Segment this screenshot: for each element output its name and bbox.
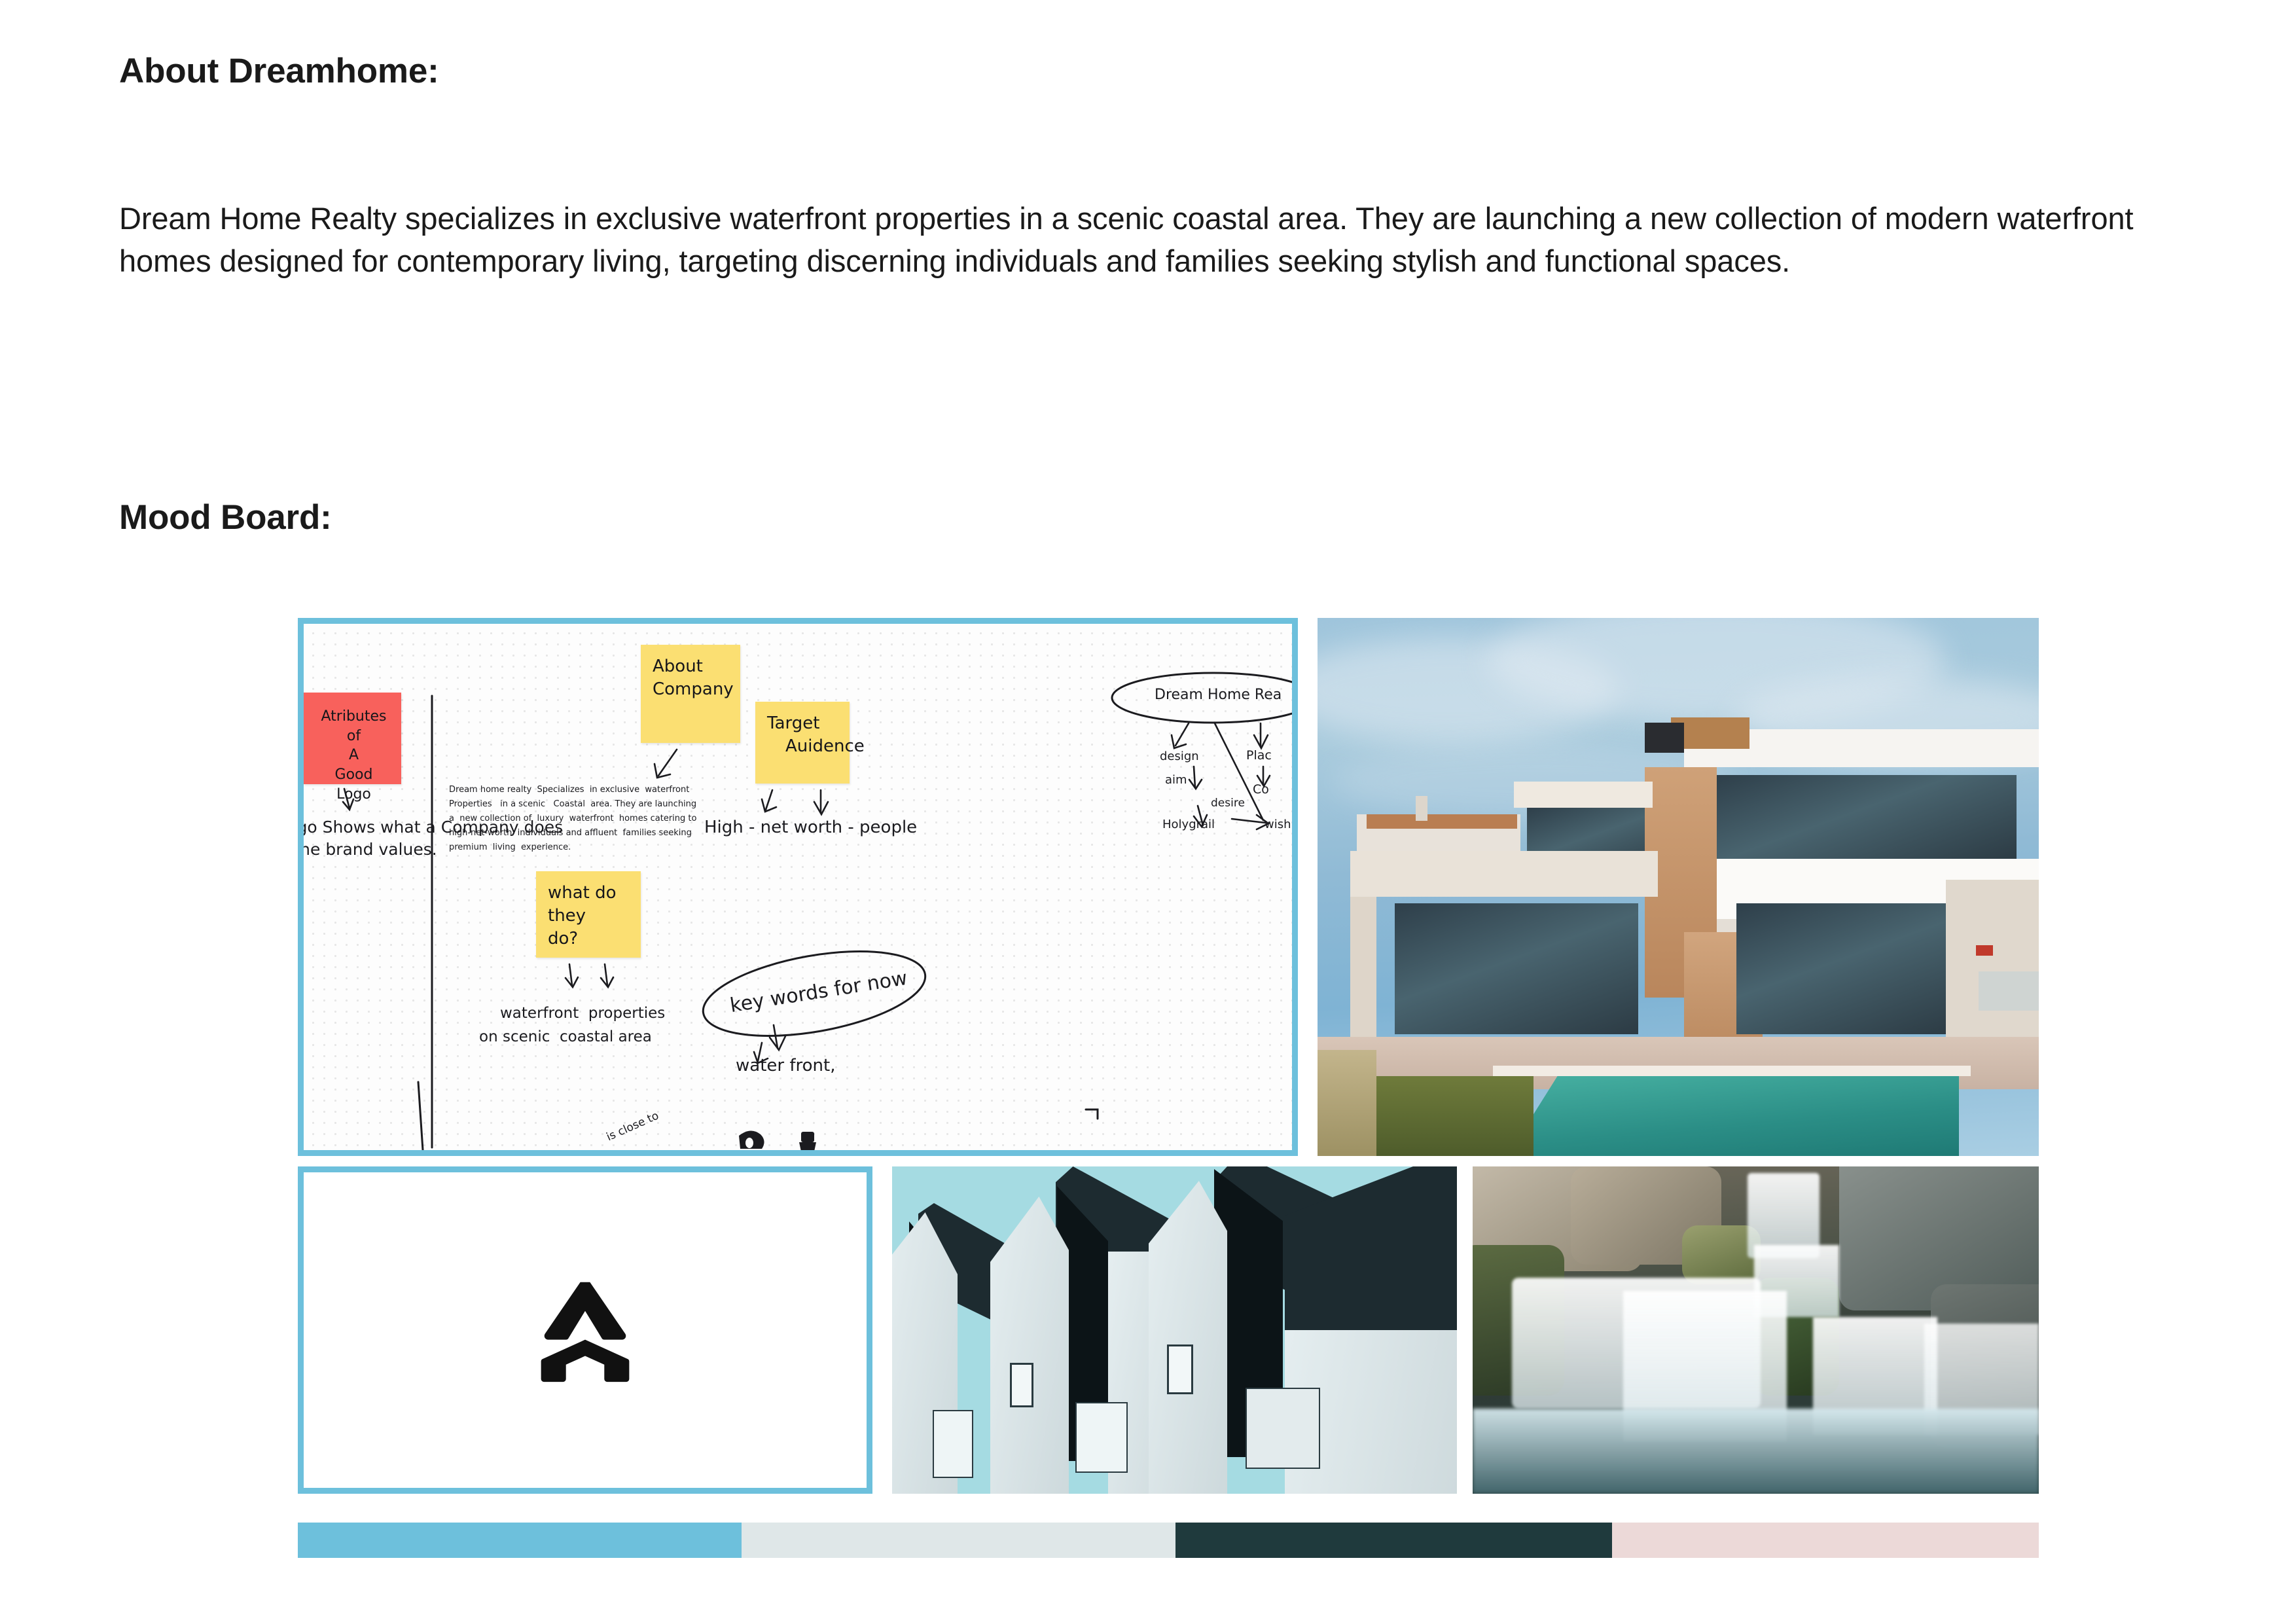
- waterfall-plunge-pool: [1473, 1409, 2039, 1494]
- handwriting-waterfront-properties: waterfront properties: [500, 1005, 665, 1022]
- about-paragraph: Dream Home Realty specializes in exclusi…: [119, 198, 2142, 283]
- handwriting-logo-note-line-2: and what the brand values.: [298, 840, 437, 859]
- mood-board-row-1: About Company Atributes of A Good Logo T…: [298, 618, 2039, 1156]
- palette-swatch-pale-mist[interactable]: [742, 1523, 1175, 1558]
- gables-window-1: [1010, 1363, 1033, 1407]
- villa-neighbor-roof: [1367, 814, 1517, 829]
- dreamhome-logo-icon: [528, 1276, 643, 1384]
- sticky-note-line-2: do?: [548, 928, 632, 950]
- handwriting-branch-design: design: [1160, 749, 1199, 763]
- page-title-about: About Dreamhome:: [119, 51, 439, 91]
- handwriting-about-paragraph-line-5: premium living experience.: [449, 842, 571, 852]
- sticky-note-line-1: Target: [767, 712, 840, 735]
- gables-balcony-1: [933, 1410, 973, 1478]
- handwriting-about-paragraph-line-2: Properties in a scenic Coastal area. The…: [449, 799, 696, 809]
- villa-pool-coping: [1493, 1066, 1971, 1076]
- logo-card: [298, 1166, 872, 1494]
- handwriting-scenic-coastal-area: on scenic coastal area: [479, 1028, 652, 1045]
- gables-balcony-2: [1075, 1402, 1128, 1473]
- sticky-note-about-company[interactable]: About Company: [641, 645, 740, 743]
- villa-right-window-band: [1736, 903, 1952, 1034]
- handwriting-about-paragraph-line-3: a new collection of luxury waterfront ho…: [449, 814, 696, 823]
- handwriting-waterfront: water front,: [736, 1056, 835, 1075]
- villa-lower-window-band: [1395, 903, 1638, 1034]
- villa-neighbor-right: [1979, 971, 2039, 1011]
- gables-balcony-3: [1246, 1388, 1320, 1469]
- sticky-note-line-1: what do they: [548, 882, 632, 928]
- handwriting-branch-aim: aim: [1165, 773, 1187, 787]
- sticky-note-line-2: Auidence: [767, 735, 840, 758]
- photo-gabled-townhouses: [892, 1166, 1457, 1494]
- sticky-note-line-1: About: [653, 655, 731, 678]
- handwriting-branch-co: Co: [1253, 782, 1269, 797]
- handwriting-branch-place: Plac: [1246, 748, 1272, 763]
- palette-swatch-blush-pink[interactable]: [1612, 1523, 2039, 1558]
- sticky-note-line-2: Company: [653, 678, 731, 701]
- villa-lower-roof-slab: [1350, 851, 1658, 897]
- palette-swatch-deep-teal[interactable]: [1175, 1523, 1613, 1558]
- handwriting-is-close-to: is close to: [605, 1110, 661, 1144]
- sticky-note-target-audience[interactable]: Target Auidence: [755, 702, 850, 784]
- villa-mid-roof: [1514, 782, 1653, 808]
- sticky-note-what-do-they-do[interactable]: what do they do?: [536, 871, 641, 958]
- handwriting-brand-bubble: Dream Home Rea: [1155, 687, 1282, 703]
- section-title-mood-board: Mood Board:: [119, 497, 332, 537]
- palette-swatch-sky-blue[interactable]: [298, 1523, 742, 1558]
- handwriting-high-net-worth: High - net worth - people: [704, 818, 917, 837]
- handwriting-keywords-for-now: key words for now: [728, 967, 909, 1017]
- photo-cascading-waterfall: [1473, 1166, 2039, 1494]
- villa-right-wall: [1946, 880, 2039, 1043]
- handwriting-branch-wish: wish: [1265, 818, 1291, 831]
- mood-board: About Company Atributes of A Good Logo T…: [298, 618, 2039, 1570]
- sticky-note-attributes-of-good-logo[interactable]: Atributes of A Good Logo: [304, 693, 401, 784]
- villa-louver: [1645, 723, 1684, 753]
- photo-modern-villa-pool: [1318, 618, 2039, 1156]
- sticky-note-line-1: Atributes of: [315, 707, 392, 746]
- handwriting-about-paragraph-line-1: Dream home realty Specializes in exclusi…: [449, 785, 689, 795]
- villa-ornamental-grass: [1318, 1050, 1376, 1156]
- villa-chimney: [1416, 796, 1427, 821]
- handwriting-branch-desire: desire: [1211, 797, 1245, 810]
- sticky-note-line-3: Good Logo: [315, 765, 392, 804]
- villa-upper-window-band: [1715, 775, 2017, 860]
- color-palette: [298, 1523, 2039, 1558]
- gables-window-2: [1167, 1344, 1193, 1394]
- sticky-note-line-2: A: [315, 746, 392, 765]
- villa-red-sign: [1976, 945, 1993, 956]
- handwriting-about-paragraph-line-4: high-net-worth individuals and affluent …: [449, 828, 692, 838]
- handwriting-branch-holygrail: Holygrail: [1162, 818, 1215, 831]
- villa-left-pier: [1350, 897, 1376, 1041]
- mood-board-row-2: [298, 1166, 2039, 1494]
- villa-pool: [1507, 1070, 1959, 1156]
- whiteboard-panel: About Company Atributes of A Good Logo T…: [298, 618, 1298, 1156]
